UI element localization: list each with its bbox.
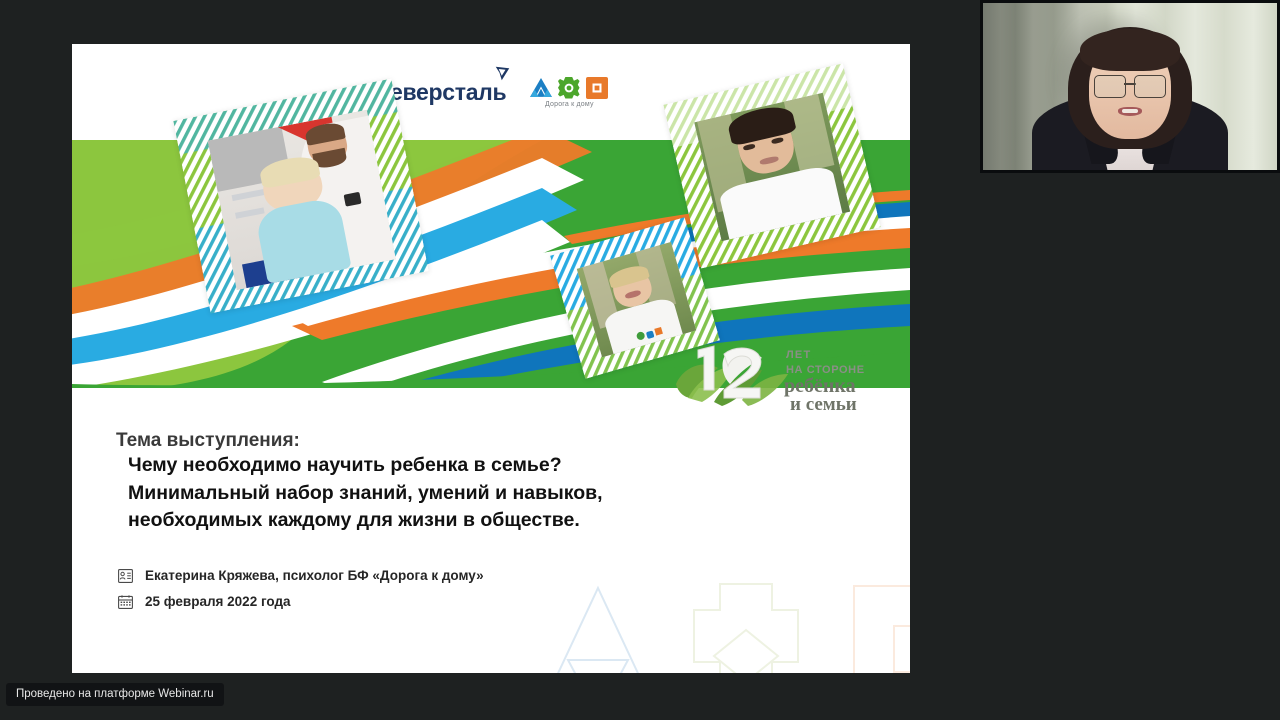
doroga-k-domu-logo: Дорога к дому — [530, 77, 608, 108]
presentation-slide[interactable]: Северсталь — [72, 44, 910, 673]
title-line-2: Минимальный набор знаний, умений и навык… — [128, 480, 708, 508]
id-badge-icon — [118, 569, 133, 583]
triangle-outline-icon — [538, 588, 658, 673]
slide-meta-block: Екатерина Кряжева, психолог БФ «Дорога к… — [118, 568, 484, 620]
meta-speaker-text: Екатерина Кряжева, психолог БФ «Дорога к… — [145, 568, 484, 583]
presenter-fringe — [1080, 29, 1180, 71]
doroga-k-domu-icons — [530, 77, 608, 99]
cross-outline-icon — [694, 584, 798, 673]
meta-date-text: 25 февраля 2022 года — [145, 594, 291, 609]
anniversary-logo: ЛЕТ НА СТОРОНЕ ребёнка и семьи — [668, 340, 864, 414]
title-line-1: Чему необходимо научить ребенка в семье? — [128, 452, 708, 480]
meta-row-speaker: Екатерина Кряжева, психолог БФ «Дорога к… — [118, 568, 484, 583]
title-text: Чему необходимо научить ребенка в семье?… — [128, 452, 708, 535]
calendar-icon — [118, 595, 133, 609]
background-watermark-shapes — [512, 564, 910, 673]
doroga-k-domu-caption: Дорога к дому — [545, 101, 594, 108]
title-label: Тема выступления: — [116, 428, 300, 452]
square-outline-icon — [854, 586, 910, 673]
glasses-icon — [1094, 75, 1166, 96]
title-line-3: необходимых каждому для жизни в обществе… — [128, 507, 708, 535]
anniv-line4: и семьи — [790, 394, 857, 414]
webcam-video — [983, 3, 1277, 170]
triangle-icon — [530, 78, 552, 98]
photo-card-father-and-baby — [173, 79, 428, 314]
severstal-chevron-icon — [495, 66, 510, 81]
anniv-line1: ЛЕТ — [786, 349, 811, 361]
photo-image-father-and-baby — [208, 110, 396, 290]
square-icon — [586, 77, 608, 99]
presenter-teeth — [1122, 109, 1138, 113]
anniversary-logo-graphic: ЛЕТ НА СТОРОНЕ ребёнка и семьи — [668, 340, 864, 414]
meta-row-date: 25 февраля 2022 года — [118, 594, 484, 609]
flower-icon — [558, 77, 580, 99]
webinar-platform-watermark: Проведено на платформе Webinar.ru — [6, 683, 224, 706]
presenter-webcam-panel[interactable] — [980, 0, 1280, 173]
slide-title-block: Тема выступления: Чему необходимо научит… — [116, 428, 876, 535]
